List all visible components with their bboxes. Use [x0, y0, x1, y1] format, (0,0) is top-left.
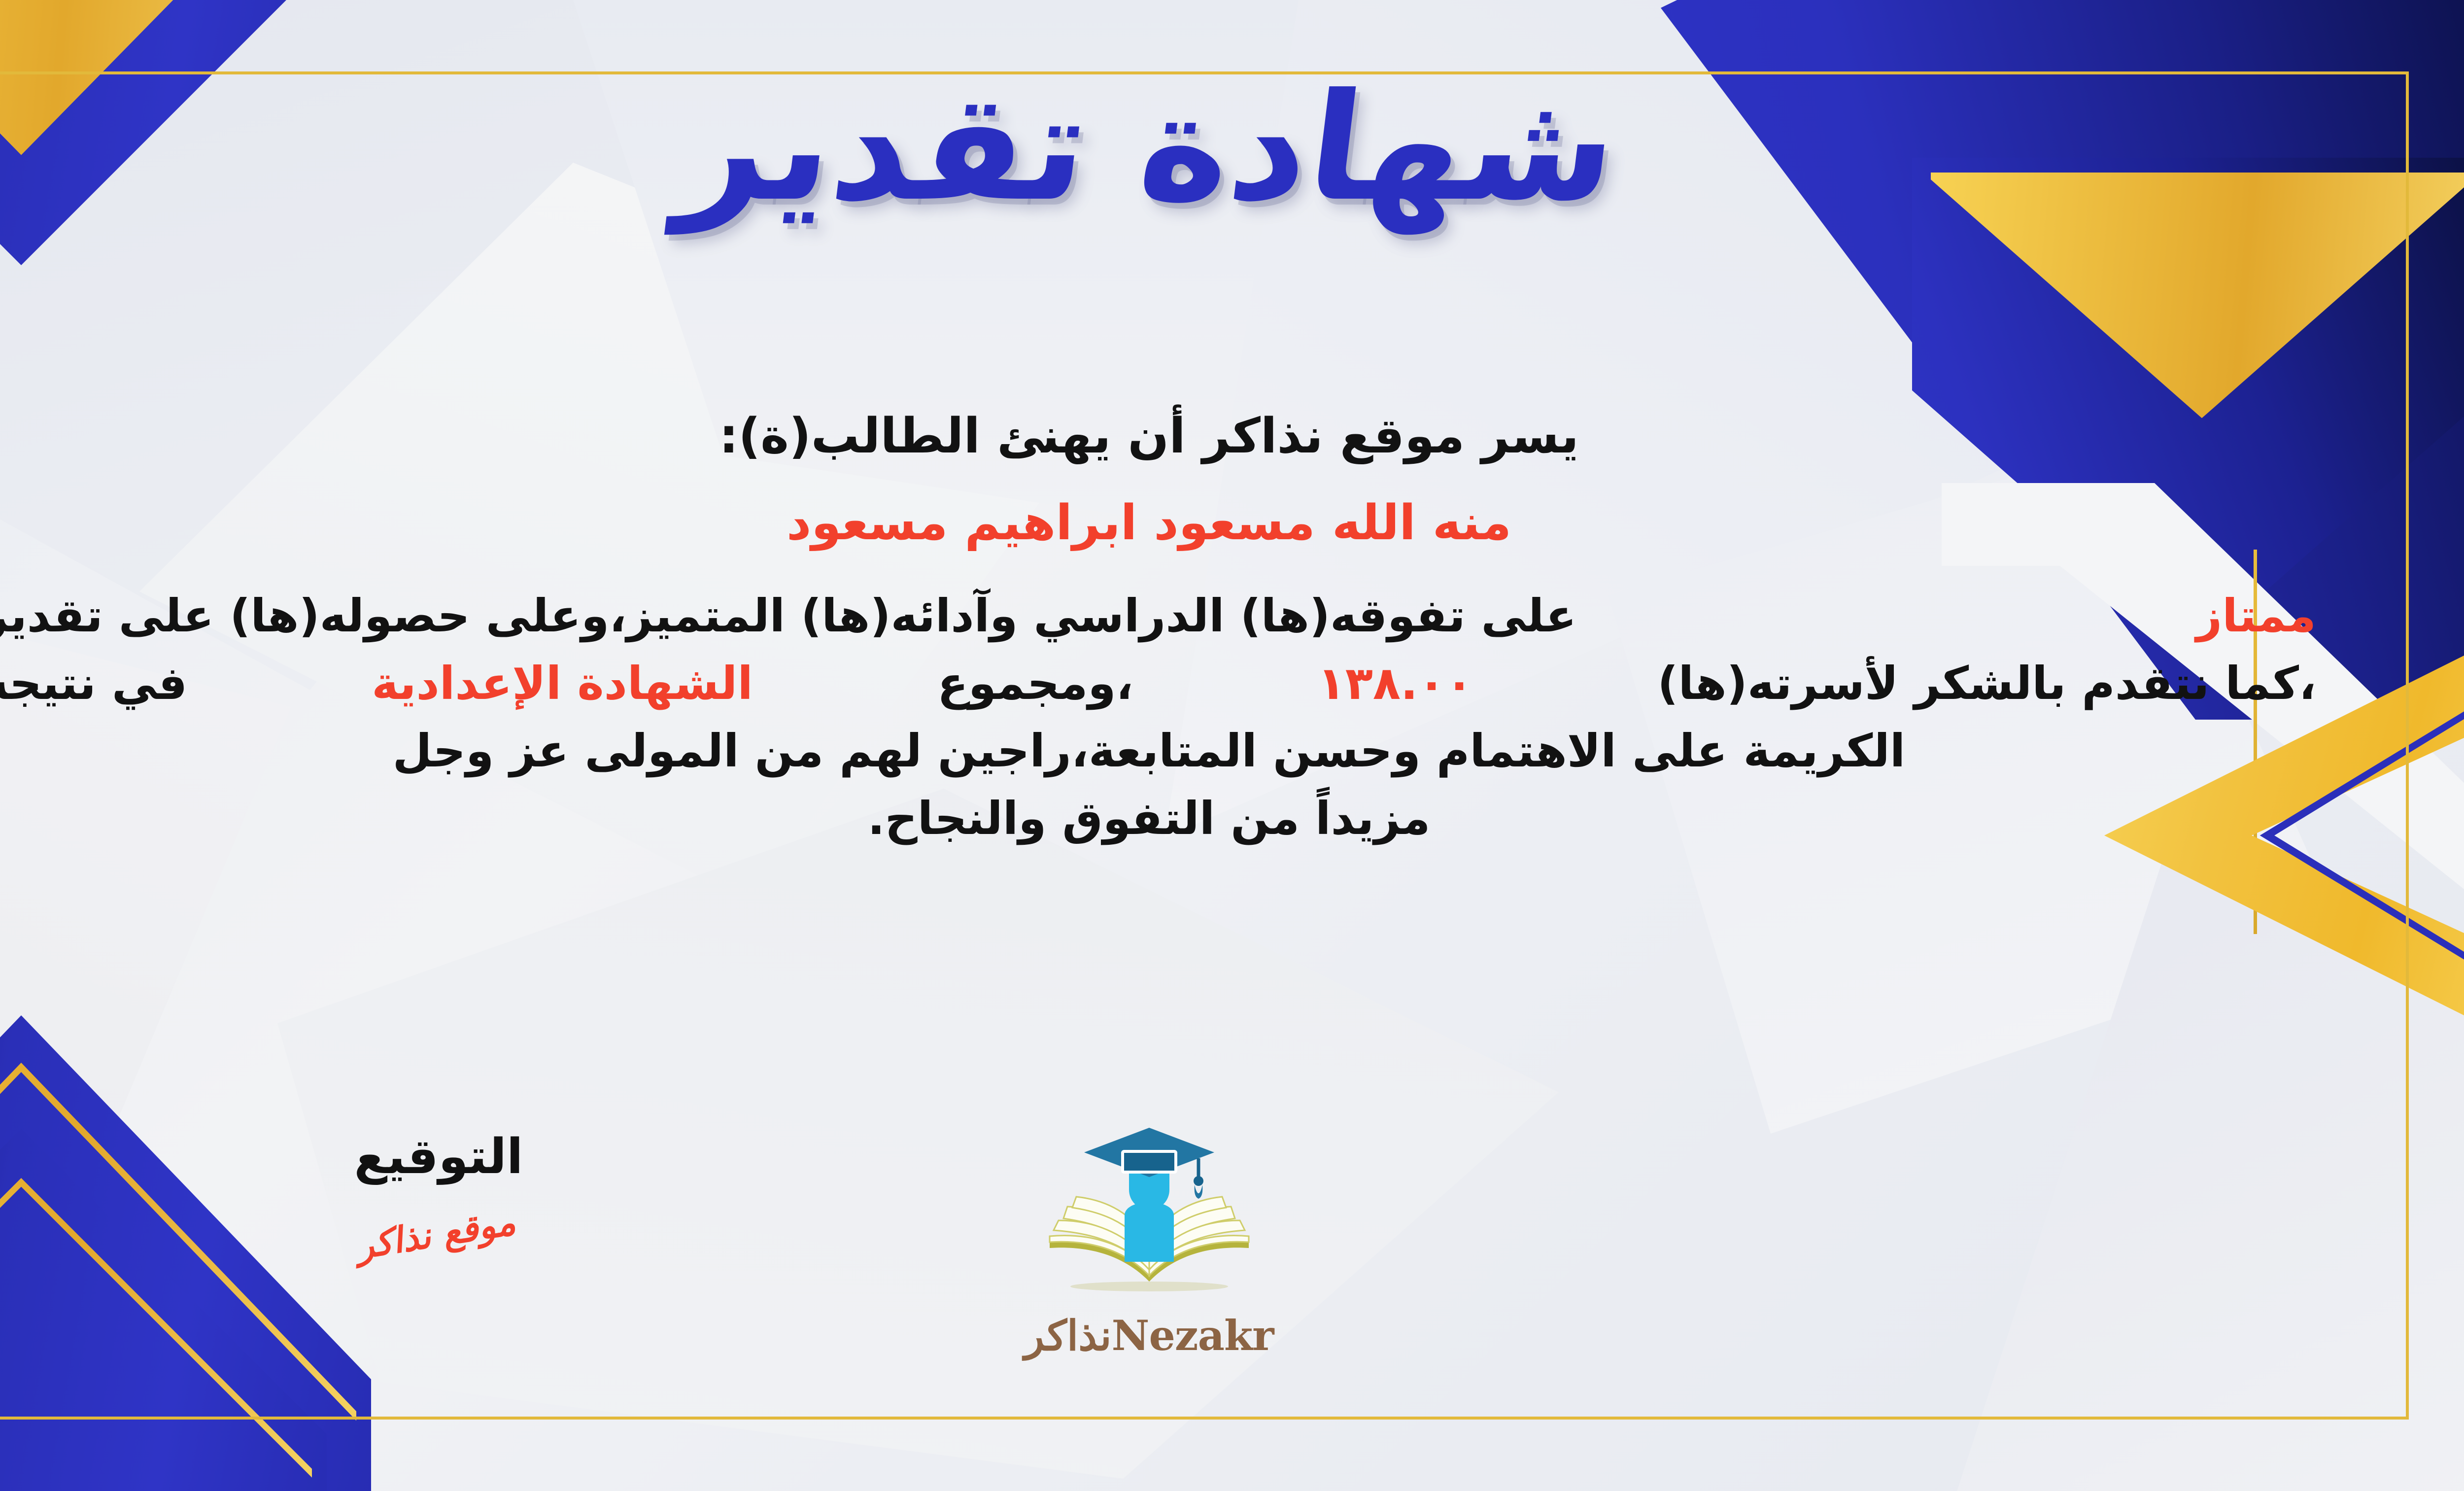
achievement-line-4: مزيداً من التفوق والنجاح.: [0, 788, 2316, 850]
site-logo: Nezakrنذاكر: [0, 1119, 2464, 1360]
total-label: ،ومجموع: [937, 653, 1133, 715]
certificate-title: شهادة تقدير: [672, 74, 1625, 222]
greeting-line: يسر موقع نذاكر أن يهنئ الطالب(ة):: [0, 404, 2316, 468]
logo-text-ar: نذاكر: [1025, 1311, 1112, 1360]
achievement-text: على تفوقه(ها) الدراسي وآدائه(ها) المتميز…: [0, 585, 1576, 648]
result-label: في نتيجة: [0, 653, 187, 715]
grade-value: ممتاز: [2196, 585, 2316, 648]
logo-text-en: Nezakr: [1112, 1311, 1274, 1360]
exam-name: الشهادة الإعدادية: [372, 653, 753, 715]
total-score-value: ١٣٨.٠٠: [1318, 653, 1473, 715]
student-figure: [1125, 1164, 1174, 1262]
student-name: منه الله مسعود ابراهيم مسعود: [0, 491, 2316, 555]
graduate-book-logo-icon: [1021, 1119, 1277, 1306]
certificate-page: شهادة تقدير يسر موقع نذاكر أن يهنئ الطال…: [0, 0, 2464, 1491]
achievement-line-2: ،كما نتقدم بالشكر لأسرته(ها) ١٣٨.٠٠ ،ومج…: [0, 653, 2316, 715]
certificate-body: يسر موقع نذاكر أن يهنئ الطالب(ة): منه ال…: [0, 404, 2316, 855]
family-thanks-text: ،كما نتقدم بالشكر لأسرته(ها): [1657, 653, 2316, 715]
achievement-line-3: الكريمة على الاهتمام وحسن المتابعة،راجين…: [0, 720, 2316, 783]
certificate-title-wrapper: شهادة تقدير: [0, 74, 2464, 222]
achievement-line-1: ممتاز على تفوقه(ها) الدراسي وآدائه(ها) ا…: [0, 585, 2316, 648]
logo-text: Nezakrنذاكر: [0, 1311, 2464, 1360]
